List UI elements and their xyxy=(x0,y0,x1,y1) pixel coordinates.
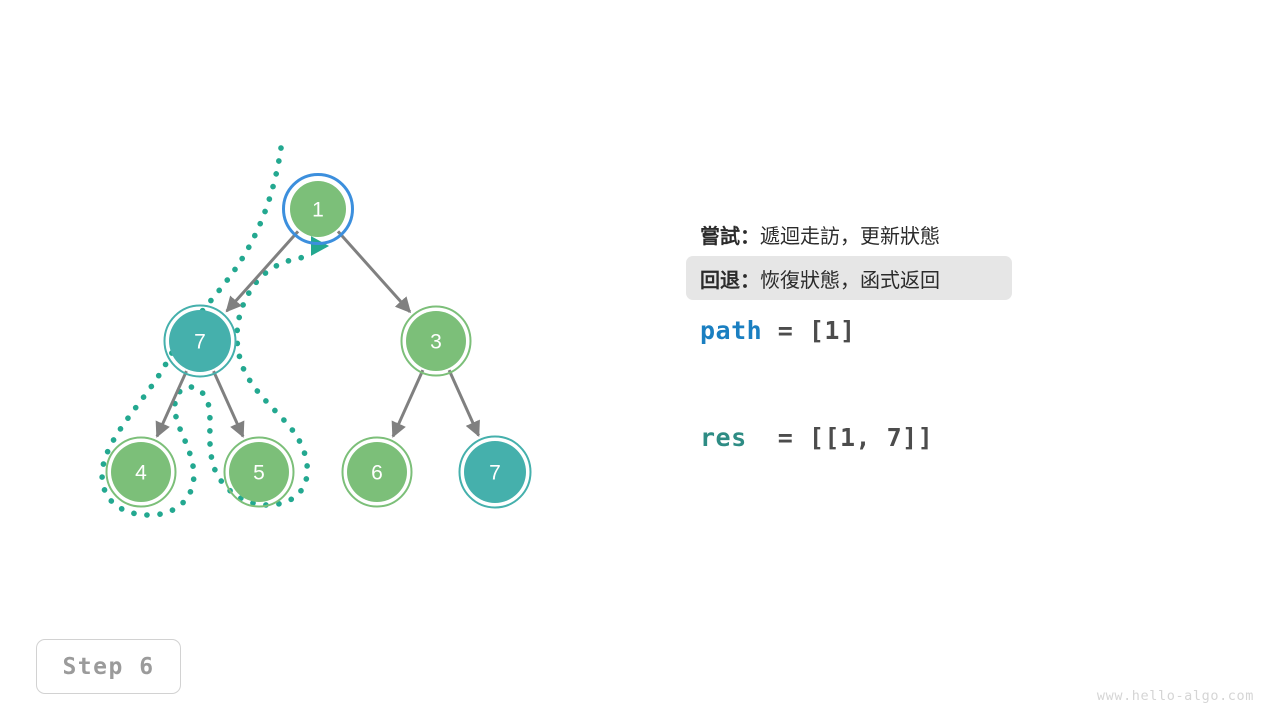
variable-row-path: path = [1] xyxy=(700,316,1240,345)
res-variable-name: res xyxy=(700,423,747,452)
variable-row-res: res = [[1, 7]] xyxy=(700,423,1240,452)
node-value-label: 1 xyxy=(312,199,324,222)
tree-edge xyxy=(393,370,423,436)
phase-try-value: 遞迴走訪，更新狀態 xyxy=(760,220,940,249)
tree-edge xyxy=(157,371,186,436)
illustration-canvas: 1734567 嘗試： 遞迴走訪，更新狀態 回退： 恢復狀態，函式返回 path… xyxy=(0,0,1280,720)
tree-edge xyxy=(338,231,410,312)
phase-row-backtrack: 回退： 恢復狀態，函式返回 xyxy=(686,256,1012,300)
node-value-label: 5 xyxy=(253,462,265,485)
node-value-label: 3 xyxy=(430,331,442,354)
node-value-label: 6 xyxy=(371,462,383,485)
tree-node-6: 6 xyxy=(343,438,412,507)
tree-node-1: 1 xyxy=(284,175,353,244)
path-variable-value: [1] xyxy=(809,316,856,345)
phase-try-key: 嘗試： xyxy=(700,220,760,249)
binary-tree-diagram: 1734567 xyxy=(0,0,640,720)
tree-edge xyxy=(227,231,298,311)
tree-node-5: 5 xyxy=(225,438,294,507)
site-watermark: www.hello-algo.com xyxy=(1097,688,1254,704)
dfs-trace-arrowhead xyxy=(311,236,329,256)
node-value-label: 7 xyxy=(489,462,501,485)
tree-node-7: 7 xyxy=(165,306,236,377)
tree-node-3: 3 xyxy=(402,307,471,376)
path-variable-name: path xyxy=(700,316,762,345)
phase-backtrack-value: 恢復狀態，函式返回 xyxy=(760,264,940,293)
path-equals-sign: = xyxy=(762,316,809,345)
node-value-label: 4 xyxy=(135,462,147,485)
tree-nodes-group: 1734567 xyxy=(107,175,531,508)
step-badge-label: Step 6 xyxy=(62,654,154,680)
phase-row-try: 嘗試： 遞迴走訪，更新狀態 xyxy=(686,212,1012,256)
tree-edge xyxy=(214,371,243,436)
phase-backtrack-key: 回退： xyxy=(700,264,760,293)
tree-node-4: 4 xyxy=(107,438,176,507)
res-variable-value: [[1, 7]] xyxy=(809,423,933,452)
tree-node-7: 7 xyxy=(460,437,531,508)
res-equals-sign: = xyxy=(747,423,809,452)
tree-edge xyxy=(449,370,478,435)
step-badge: Step 6 xyxy=(36,639,181,694)
node-value-label: 7 xyxy=(194,331,206,354)
info-panel: 嘗試： 遞迴走訪，更新狀態 回退： 恢復狀態，函式返回 path = [1] r… xyxy=(700,212,1240,452)
